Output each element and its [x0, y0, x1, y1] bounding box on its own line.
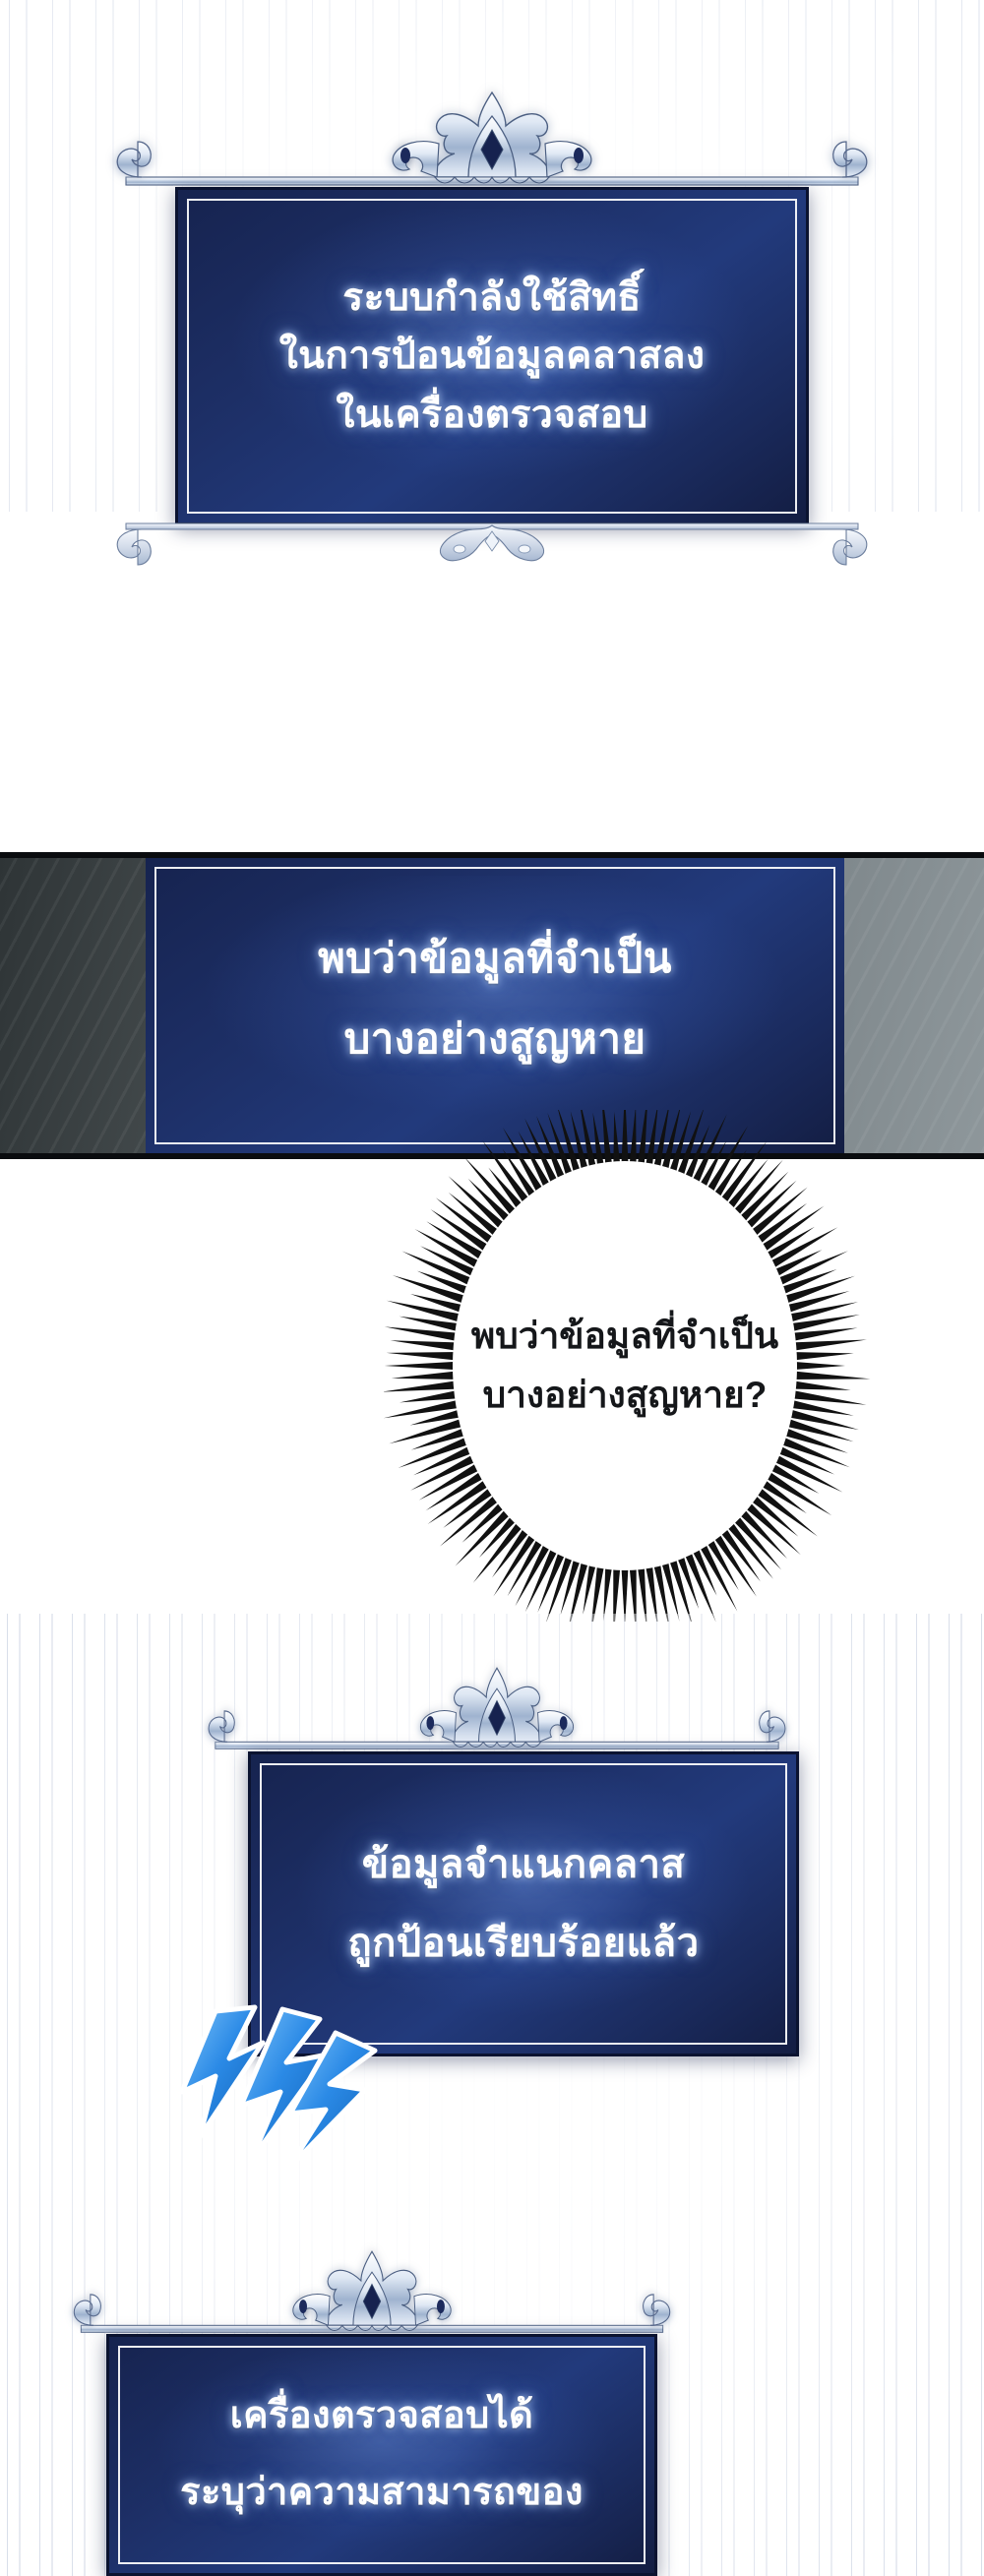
panel-verifier-states: เครื่องตรวจสอบได้ ระบุว่าความสามารถของ	[106, 2334, 657, 2576]
filigree-crown-ornament-top-3	[202, 1663, 792, 1757]
filigree-crown-ornament-top-1	[108, 87, 876, 195]
panel-caption-text: เครื่องตรวจสอบได้ ระบุว่าความสามารถของ	[109, 2337, 654, 2573]
bubble-line: บางอย่างสูญหาย?	[349, 1366, 900, 1425]
panel-frame: เครื่องตรวจสอบได้ ระบุว่าความสามารถของ	[106, 2334, 657, 2576]
panel-class-data-entered: ข้อมูลจำแนกคลาส ถูกป้อนเรียบร้อยแล้ว	[248, 1751, 799, 2056]
caption-line: ในการป้อนข้อมูลคลาสลง	[279, 327, 706, 385]
panel-frame: ข้อมูลจำแนกคลาส ถูกป้อนเรียบร้อยแล้ว	[248, 1751, 799, 2056]
caption-line: ในเครื่องตรวจสอบ	[336, 386, 647, 444]
webtoon-page: ระบบกำลังใช้สิทธิ์ ในการป้อนข้อมูลคลาสลง…	[0, 0, 984, 2576]
speech-bubble-missing-data-question: พบว่าข้อมูลที่จำเป็น บางอย่างสูญหาย?	[349, 1110, 900, 1622]
panel-frame: ระบบกำลังใช้สิทธิ์ ในการป้อนข้อมูลคลาสลง…	[175, 187, 809, 525]
caption-line: ระบบกำลังใช้สิทธิ์	[342, 269, 642, 327]
panel-caption-text: ระบบกำลังใช้สิทธิ์ ในการป้อนข้อมูลคลาสลง…	[178, 190, 806, 522]
caption-line: บางอย่างสูญหาย	[344, 1001, 646, 1081]
panel-missing-data: พบว่าข้อมูลที่จำเป็น บางอย่างสูญหาย	[146, 858, 844, 1153]
panel-caption-text: พบว่าข้อมูลที่จำเป็น บางอย่างสูญหาย	[146, 858, 844, 1153]
speech-bubble-text: พบว่าข้อมูลที่จำเป็น บางอย่างสูญหาย?	[349, 1307, 900, 1425]
filigree-crown-ornament-top-4	[67, 2246, 677, 2341]
caption-line: เครื่องตรวจสอบได้	[230, 2378, 533, 2455]
bubble-line: พบว่าข้อมูลที่จำเป็น	[349, 1307, 900, 1366]
caption-line: พบว่าข้อมูลที่จำเป็น	[318, 920, 672, 1001]
panel-frame: พบว่าข้อมูลที่จำเป็น บางอย่างสูญหาย	[146, 858, 844, 1153]
caption-line: ถูกป้อนเรียบร้อยแล้ว	[348, 1904, 700, 1983]
caption-line: ระบุว่าความสามารถของ	[180, 2455, 584, 2532]
panel-system-authority: ระบบกำลังใช้สิทธิ์ ในการป้อนข้อมูลคลาสลง…	[175, 187, 809, 525]
panel-caption-text: ข้อมูลจำแนกคลาส ถูกป้อนเรียบร้อยแล้ว	[251, 1754, 796, 2054]
caption-line: ข้อมูลจำแนกคลาส	[362, 1825, 685, 1904]
